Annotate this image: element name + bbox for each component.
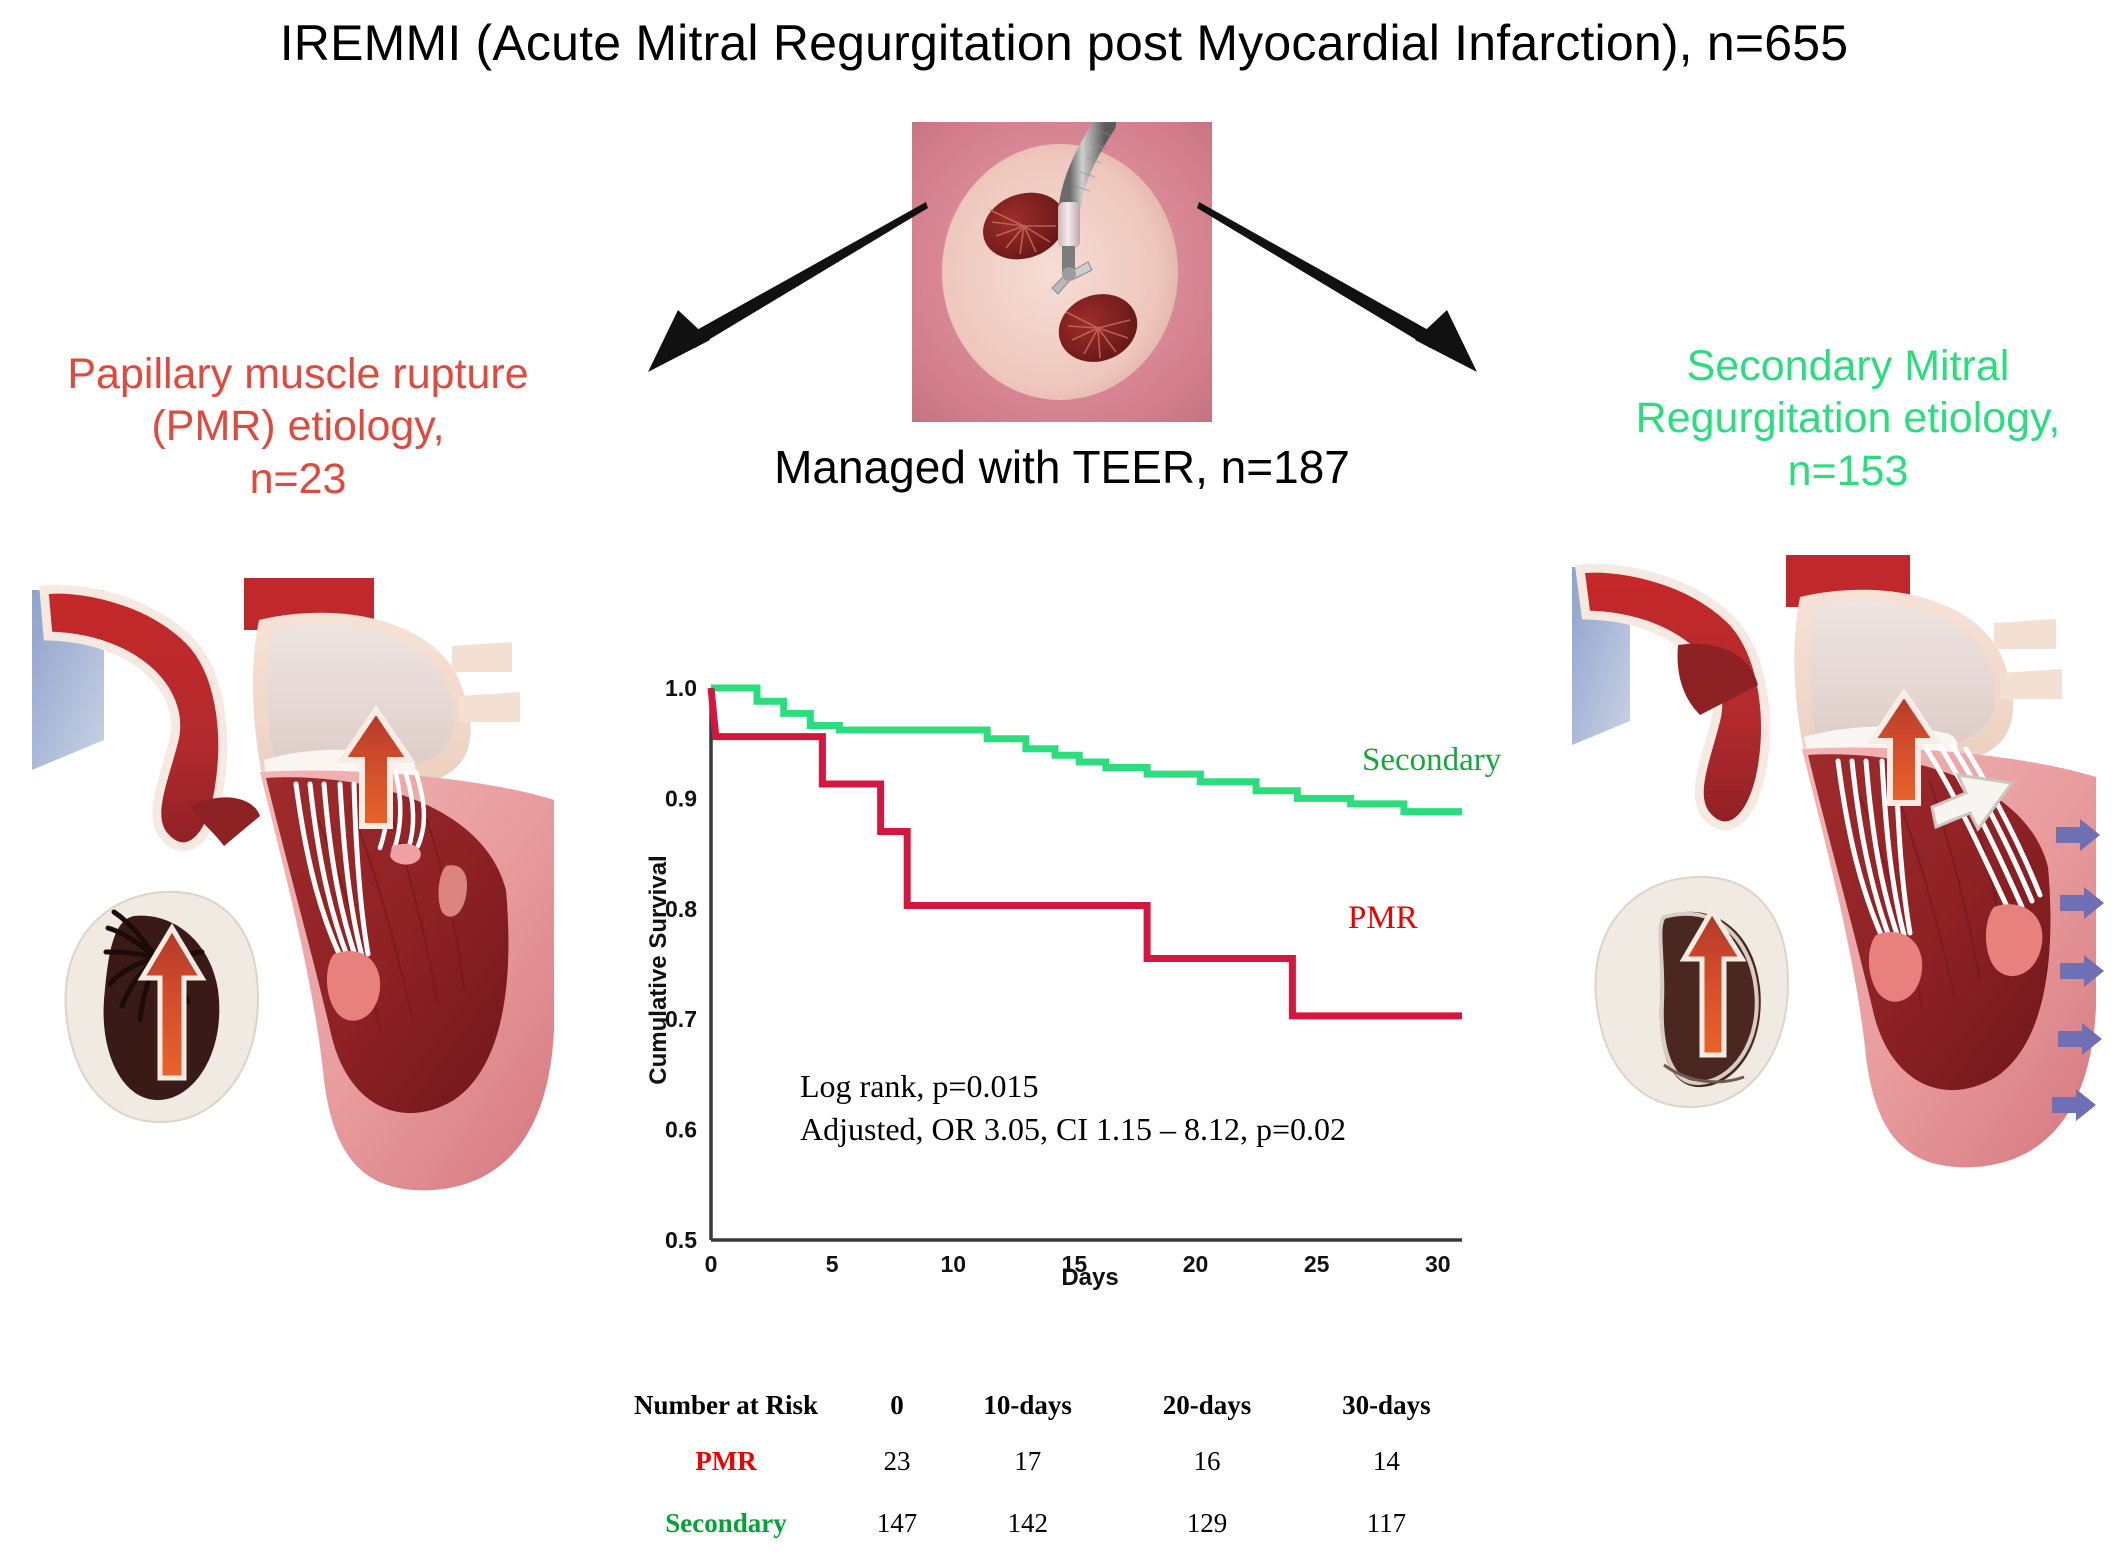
- table-header-30: 30-days: [1297, 1380, 1476, 1430]
- table-header-row: Number at Risk 0 10-days 20-days 30-days: [596, 1380, 1476, 1430]
- x-tick-0: 0: [705, 1251, 718, 1277]
- pmr-heading-line-2: (PMR) etiology,: [14, 400, 582, 452]
- adjusted-or-text: Adjusted, OR 3.05, CI 1.15 – 8.12, p=0.0…: [800, 1108, 1440, 1151]
- risk-row-label-pmr: PMR: [596, 1430, 856, 1492]
- table-row: Secondary 147 142 129 117: [596, 1492, 1476, 1554]
- teer-mitral-clip-illustration: [912, 122, 1212, 422]
- risk-row-label-secondary: Secondary: [596, 1492, 856, 1554]
- x-tick-10: 10: [940, 1251, 966, 1277]
- page-title: IREMMI (Acute Mitral Regurgitation post …: [0, 14, 2128, 72]
- number-at-risk-table: Number at Risk 0 10-days 20-days 30-days…: [596, 1380, 1476, 1554]
- x-axis-title: Days: [1061, 1264, 1118, 1290]
- secondary-heading-line-1: Secondary Mitral: [1578, 340, 2118, 392]
- x-tick-30: 30: [1425, 1251, 1451, 1277]
- table-header-20: 20-days: [1117, 1380, 1296, 1430]
- secondary-branch-heading: Secondary Mitral Regurgitation etiology,…: [1578, 340, 2118, 497]
- x-tick-20: 20: [1183, 1251, 1209, 1277]
- risk-pmr-day20: 16: [1117, 1430, 1296, 1492]
- pmr-heading-line-3: n=23: [14, 453, 582, 505]
- pmr-branch-heading: Papillary muscle rupture (PMR) etiology,…: [14, 348, 582, 505]
- curve-label-secondary: Secondary: [1362, 742, 1501, 779]
- pmr-heading-line-1: Papillary muscle rupture: [14, 348, 582, 400]
- y-tick-0.6: 0.6: [665, 1117, 697, 1143]
- papillary-muscle-rupture-heart-illustration: [14, 560, 574, 1215]
- arrow-to-pmr-icon: [600, 180, 930, 410]
- secondary-mitral-regurgitation-heart-illustration: [1560, 545, 2120, 1205]
- arrow-to-secondary-icon: [1195, 180, 1525, 410]
- secondary-heading-line-2: Regurgitation etiology,: [1578, 392, 2118, 444]
- risk-secondary-day0: 147: [856, 1492, 938, 1554]
- table-header-0: 0: [856, 1380, 938, 1430]
- kaplan-meier-survival-chart: 0.50.60.70.80.91.0 051015202530 Cumulati…: [640, 670, 1470, 1290]
- risk-pmr-day10: 17: [938, 1430, 1117, 1492]
- y-tick-0.5: 0.5: [665, 1227, 697, 1253]
- risk-secondary-day30: 117: [1297, 1492, 1476, 1554]
- table-row: PMR 23 17 16 14: [596, 1430, 1476, 1492]
- risk-secondary-day20: 129: [1117, 1492, 1296, 1554]
- log-rank-text: Log rank, p=0.015: [800, 1065, 1440, 1108]
- risk-pmr-day0: 23: [856, 1430, 938, 1492]
- table-corner-label: Number at Risk: [596, 1380, 856, 1430]
- chart-statistics-annotation: Log rank, p=0.015 Adjusted, OR 3.05, CI …: [800, 1065, 1440, 1150]
- y-tick-0.9: 0.9: [665, 785, 697, 811]
- risk-secondary-day10: 142: [938, 1492, 1117, 1554]
- secondary-heading-line-3: n=153: [1578, 445, 2118, 497]
- y-axis-title: Cumulative Survival: [645, 855, 672, 1084]
- teer-caption: Managed with TEER, n=187: [762, 440, 1362, 494]
- risk-pmr-day30: 14: [1297, 1430, 1476, 1492]
- table-header-10: 10-days: [938, 1380, 1117, 1430]
- x-tick-5: 5: [826, 1251, 839, 1277]
- x-tick-25: 25: [1304, 1251, 1330, 1277]
- y-tick-1.0: 1.0: [665, 675, 697, 701]
- survival-curve-pmr: [711, 688, 1462, 1016]
- curve-label-pmr: PMR: [1348, 900, 1418, 937]
